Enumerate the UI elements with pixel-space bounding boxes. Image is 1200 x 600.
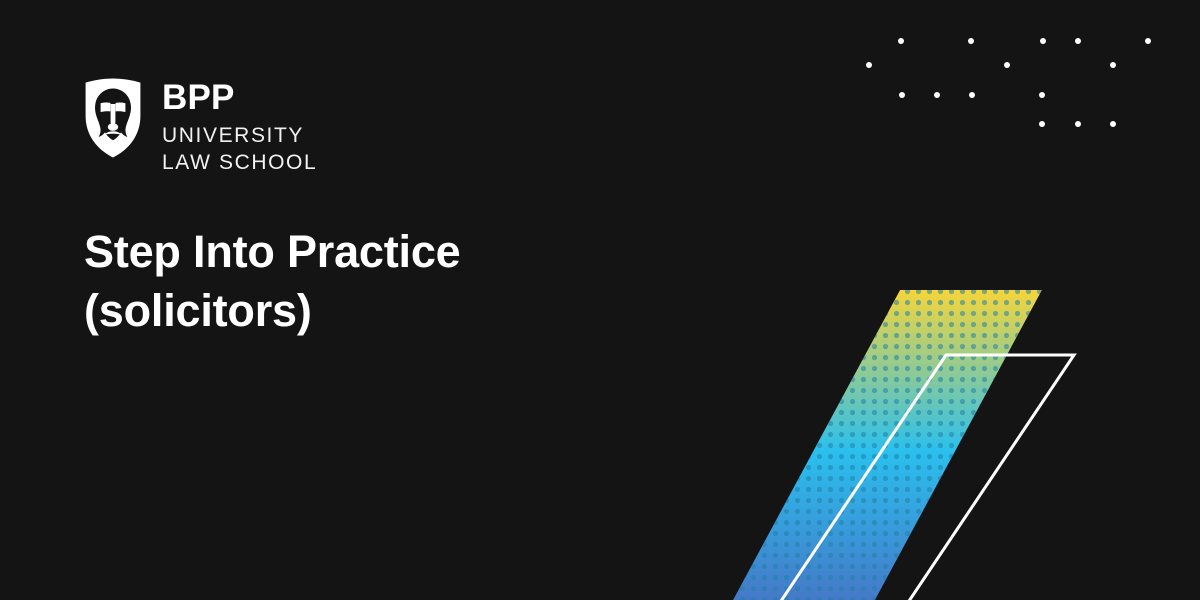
- decoration-dot: [968, 38, 974, 44]
- decoration-dot: [1075, 38, 1081, 44]
- decoration-dot: [1145, 38, 1151, 44]
- decorative-artwork: [680, 270, 1200, 600]
- decoration-dot: [934, 92, 940, 98]
- gradient-parallelogram: [680, 270, 1200, 600]
- decoration-dot: [969, 92, 975, 98]
- decoration-dot: [898, 38, 904, 44]
- decoration-dot: [1040, 38, 1046, 44]
- decoration-dot: [1110, 62, 1116, 68]
- decoration-dot: [1039, 92, 1045, 98]
- decoration-dot: [866, 62, 872, 68]
- bpp-lion-shield-icon: [84, 78, 142, 158]
- brand-name: BPP: [162, 80, 317, 115]
- page-title-line-2: (solicitors): [84, 281, 704, 340]
- slide-canvas: BPP UNIVERSITY LAW SCHOOL Step Into Prac…: [0, 0, 1200, 600]
- decoration-dot: [899, 92, 905, 98]
- decoration-dot: [1110, 121, 1116, 127]
- outline-parallelogram: [779, 355, 1074, 600]
- brand-subline-1: UNIVERSITY: [162, 123, 317, 150]
- decoration-dot: [1004, 62, 1010, 68]
- page-title-line-1: Step Into Practice: [84, 222, 704, 281]
- brand-wordmark: BPP UNIVERSITY LAW SCHOOL: [162, 78, 317, 177]
- decoration-dot: [1075, 121, 1081, 127]
- brand-lockup: BPP UNIVERSITY LAW SCHOOL: [84, 78, 317, 177]
- brand-subline-2: LAW SCHOOL: [162, 150, 317, 177]
- page-title: Step Into Practice (solicitors): [84, 222, 704, 341]
- decoration-dot: [1039, 121, 1045, 127]
